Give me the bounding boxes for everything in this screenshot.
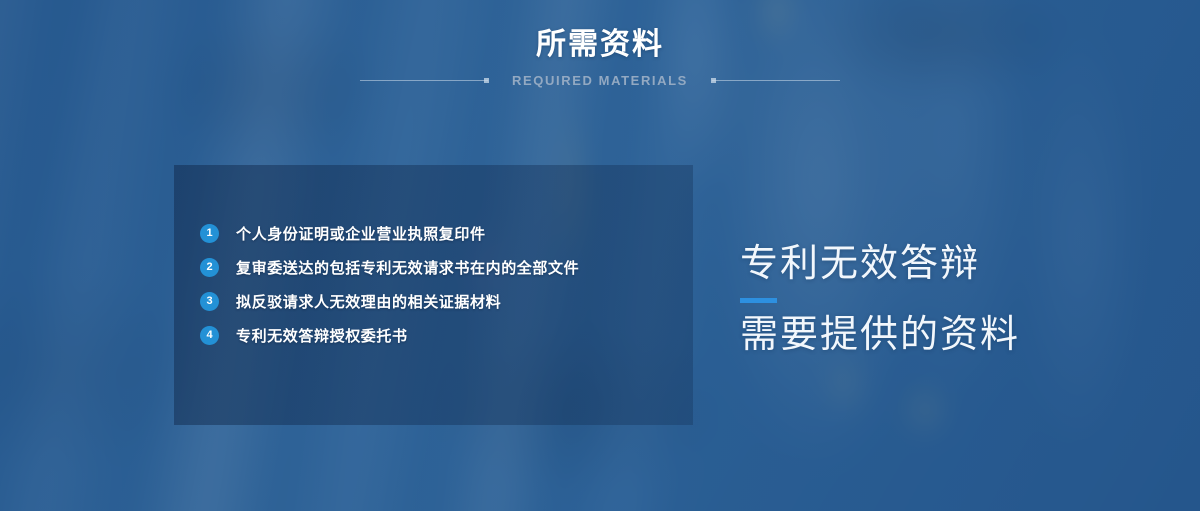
list-item-label: 拟反驳请求人无效理由的相关证据材料 bbox=[236, 291, 501, 312]
headline-line-2: 需要提供的资料 bbox=[740, 315, 1020, 356]
materials-list: 1 个人身份证明或企业营业执照复印件 2 复审委送达的包括专利无效请求书在内的全… bbox=[200, 216, 683, 352]
list-item: 4 专利无效答辩授权委托书 bbox=[200, 318, 683, 352]
list-item: 2 复审委送达的包括专利无效请求书在内的全部文件 bbox=[200, 250, 683, 284]
banner-header: 所需资料 REQUIRED MATERIALS bbox=[0, 28, 1200, 91]
headline-accent-divider bbox=[740, 298, 777, 303]
headline-block: 专利无效答辩 需要提供的资料 bbox=[740, 244, 1020, 356]
materials-panel: 1 个人身份证明或企业营业执照复印件 2 复审委送达的包括专利无效请求书在内的全… bbox=[174, 165, 693, 425]
list-number-badge: 2 bbox=[200, 258, 219, 277]
list-item-label: 个人身份证明或企业营业执照复印件 bbox=[236, 223, 486, 244]
headline-line-1: 专利无效答辩 bbox=[740, 244, 1020, 285]
divider-line-right bbox=[712, 80, 840, 81]
list-item-label: 专利无效答辩授权委托书 bbox=[236, 325, 408, 346]
list-item: 1 个人身份证明或企业营业执照复印件 bbox=[200, 216, 683, 250]
list-item: 3 拟反驳请求人无效理由的相关证据材料 bbox=[200, 284, 683, 318]
page-subtitle: REQUIRED MATERIALS bbox=[488, 73, 712, 88]
required-materials-banner: 所需资料 REQUIRED MATERIALS 1 个人身份证明或企业营业执照复… bbox=[0, 0, 1200, 511]
subtitle-row: REQUIRED MATERIALS bbox=[0, 71, 1200, 91]
list-item-label: 复审委送达的包括专利无效请求书在内的全部文件 bbox=[236, 257, 579, 278]
list-number-badge: 4 bbox=[200, 326, 219, 345]
page-title: 所需资料 bbox=[0, 28, 1200, 63]
list-number-badge: 3 bbox=[200, 292, 219, 311]
list-number-badge: 1 bbox=[200, 224, 219, 243]
divider-line-left bbox=[360, 80, 488, 81]
